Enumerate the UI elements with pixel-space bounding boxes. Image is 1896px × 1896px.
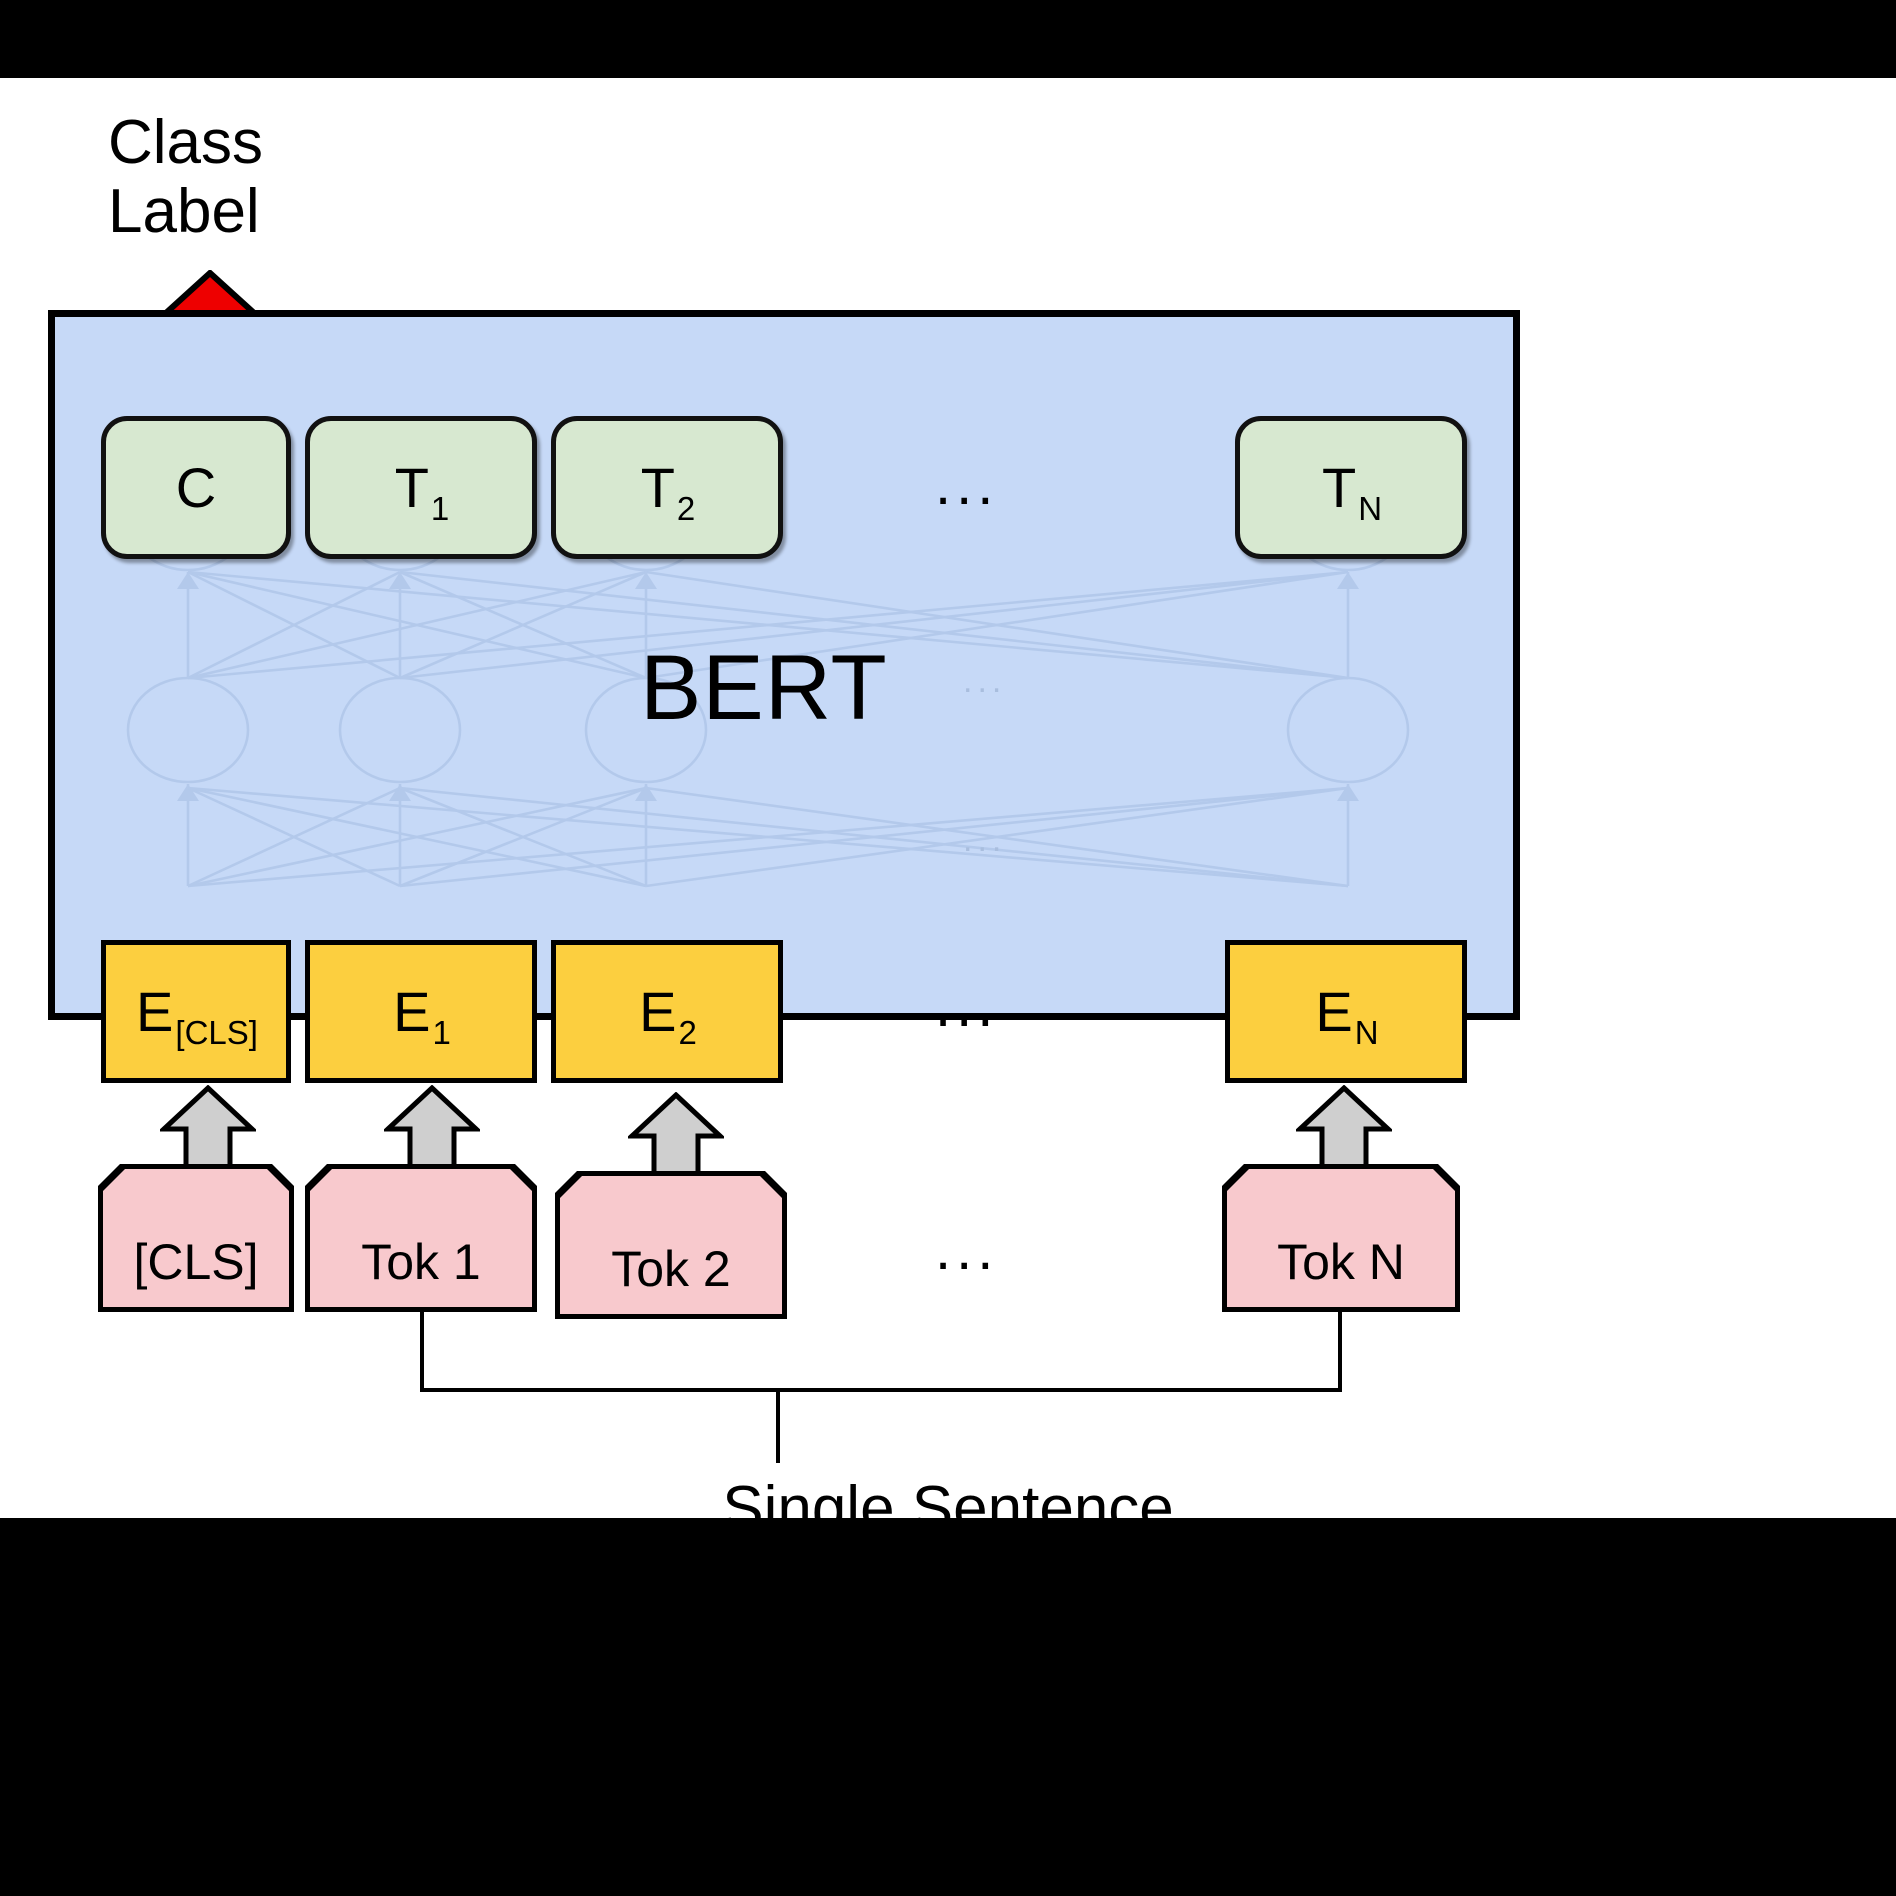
embedding-e2: E2 [551,940,783,1083]
input-arrow-cls-icon [160,1085,256,1170]
output-t1-label: T1 [395,460,448,516]
diagram-canvas: Class Label [0,78,1896,1518]
embedding-e2-label: E2 [639,984,695,1040]
screenshot-root: Class Label [0,0,1896,1896]
token-cls-label: [CLS] [133,1233,258,1291]
token-tok1: Tok 1 [305,1164,537,1312]
output-t2-label: T2 [641,460,694,516]
token-tok1-label: Tok 1 [361,1233,481,1291]
embedding-en-label: EN [1315,984,1376,1040]
token-tok2-label: Tok 2 [611,1240,731,1298]
output-c: C [101,416,291,559]
token-tok1-fill: Tok 1 [310,1169,532,1307]
embedding-cls-label: E[CLS] [136,984,256,1040]
token-tok2: Tok 2 [555,1171,787,1319]
output-tn: TN [1235,416,1467,559]
token-tokn-label: Tok N [1277,1233,1405,1291]
ellipsis-net-lower: ... [963,823,1006,857]
token-tok2-fill: Tok 2 [560,1176,782,1314]
embedding-e1: E1 [305,940,537,1083]
ellipsis-net-upper: ... [963,664,1006,698]
embedding-e1-label: E1 [393,984,449,1040]
input-arrow-tok2-icon [628,1092,724,1177]
input-arrow-tokn-icon [1296,1085,1392,1170]
sentence-caption: Single Sentence [0,1473,1896,1544]
ellipsis-outputs: ... [935,456,998,514]
token-tokn: Tok N [1222,1164,1460,1312]
token-cls-fill: [CLS] [103,1169,289,1307]
output-tn-label: TN [1322,460,1380,516]
output-t2: T2 [551,416,783,559]
output-t1: T1 [305,416,537,559]
token-tokn-fill: Tok N [1227,1169,1455,1307]
output-c-label: C [176,460,216,516]
token-cls: [CLS] [98,1164,294,1312]
embedding-cls: E[CLS] [101,940,291,1083]
input-arrow-tok1-icon [384,1085,480,1170]
class-label-text: Class Label [108,108,528,247]
embedding-en: EN [1225,940,1467,1083]
ellipsis-tokens: ... [935,1221,998,1279]
bert-title: BERT [640,636,960,741]
ellipsis-embeddings: ... [935,978,998,1036]
sentence-bracket [380,1308,1380,1468]
